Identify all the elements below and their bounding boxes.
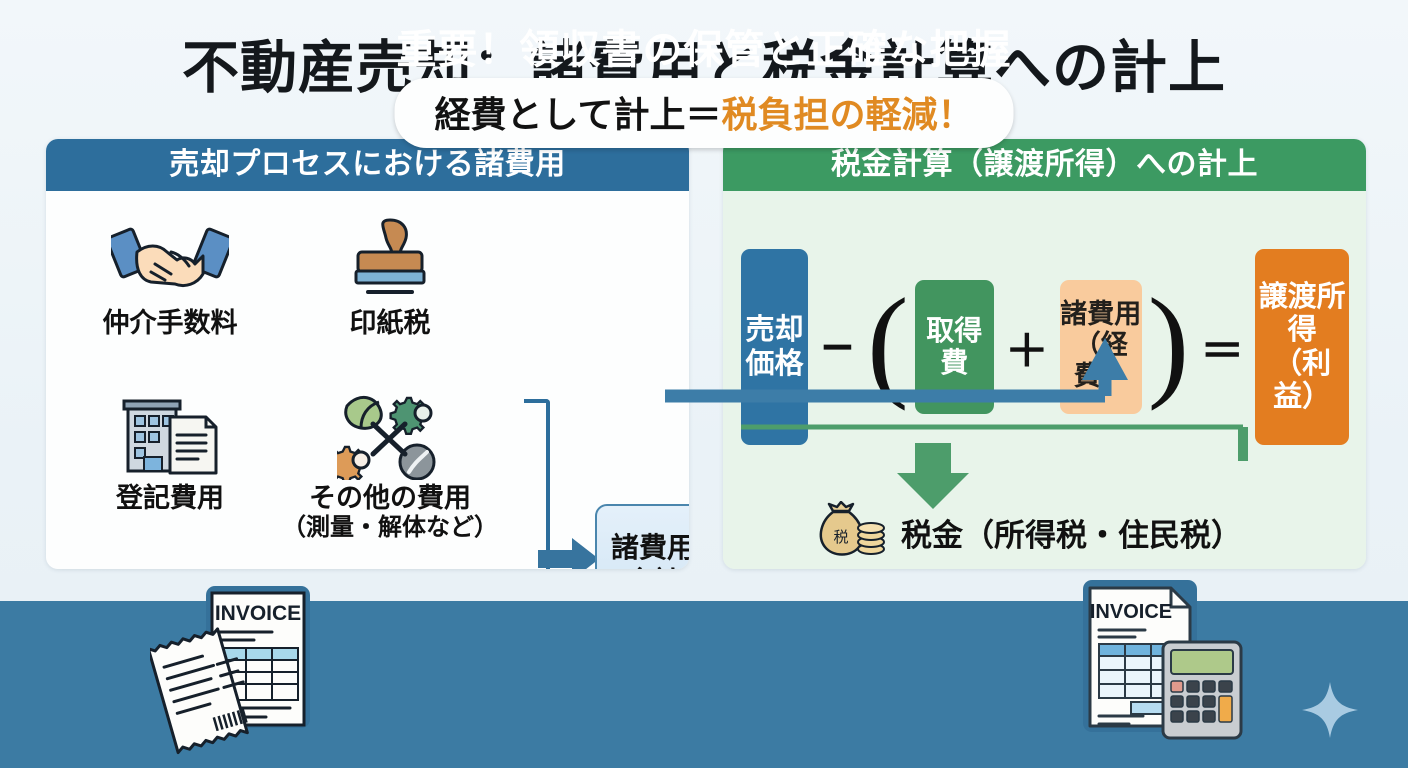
arrow-to-total-icon: [538, 536, 600, 569]
panel-tax-calculation-body: 売却 価格 − ( 取得費 ＋ 諸費用 （経費） ) ＝ 譲渡所得 （利益）: [723, 191, 1366, 569]
cost-item-other-costs-sub: （測量・解体など）: [282, 514, 498, 541]
cost-item-grid: 仲介手数料 印紙税: [60, 205, 500, 555]
cost-item-stamp-tax: 印紙税: [280, 205, 500, 380]
total-costs-line1: 諸費用: [611, 531, 689, 565]
footer-key-message-pill: 経費として計上＝税負担の軽減！: [395, 78, 1014, 148]
cost-item-registration-fee: 登記費用: [60, 380, 280, 555]
svg-text:税: 税: [833, 528, 848, 546]
formula-paren-open: (: [867, 295, 909, 393]
panel-tax-calculation: 税金計算（譲渡所得）への計上 売却 価格 − ( 取得費 ＋ 諸費用 （経費） …: [723, 139, 1366, 569]
footer-pill-plain-text: 経費として計上＝: [435, 95, 722, 136]
invoice-receipt-icon: INVOICE: [150, 584, 340, 768]
cost-item-brokerage-fee-label: 仲介手数料: [103, 309, 238, 339]
handshake-icon: [111, 213, 229, 305]
invoice-label-right: INVOICE: [1090, 601, 1172, 623]
panel-sales-costs-body: 仲介手数料 印紙税: [46, 191, 689, 569]
formula-plus-operator: ＋: [1000, 315, 1054, 379]
formula-capital-gain-line1: 譲渡所得: [1255, 280, 1349, 346]
infographic-page: 不動産売却：諸費用と税金計算への計上 売却プロセスにおける諸費用: [0, 0, 1408, 768]
panel-sales-costs: 売却プロセスにおける諸費用 仲介手数料: [46, 139, 689, 569]
total-costs-box: 諸費用 合計: [595, 504, 689, 569]
cost-item-other-costs: その他の費用 （測量・解体など）: [280, 380, 500, 555]
formula-expenses-line2: （経費）: [1060, 331, 1142, 393]
cost-item-registration-fee-label: 登記費用: [116, 484, 224, 514]
formula-sale-price-line2: 価格: [746, 347, 804, 380]
building-document-icon: [114, 388, 226, 480]
stamp-icon: [340, 213, 440, 305]
tax-result-row: 税 税金（所得税・住民税）: [815, 501, 1242, 564]
formula-sale-price-line1: 売却: [746, 313, 804, 346]
invoice-label-left: INVOICE: [215, 602, 301, 625]
money-bag-tax-icon: 税: [815, 501, 887, 564]
sparkle-icon: [1300, 680, 1360, 745]
formula-minus-operator: −: [814, 321, 861, 372]
total-costs-line2: 合計: [625, 565, 681, 569]
cost-item-other-costs-main: その他の費用: [309, 483, 471, 514]
footer-heading: 重要！領収書の保管と正確な把握: [0, 17, 1408, 75]
cost-item-other-costs-label: その他の費用 （測量・解体など）: [282, 484, 498, 541]
formula-equals-operator: ＝: [1195, 315, 1249, 379]
formula-paren-close: ): [1148, 295, 1190, 393]
invoice-calculator-icon: INVOICE: [1063, 578, 1263, 768]
cost-item-brokerage-fee: 仲介手数料: [60, 205, 280, 380]
formula-acquisition-cost-label: 取得費: [915, 315, 994, 379]
formula-acquisition-cost-box: 取得費: [915, 280, 994, 414]
cost-item-stamp-tax-label: 印紙税: [350, 309, 431, 339]
formula-expenses-line1: 諸費用: [1060, 300, 1141, 331]
footer-pill-highlight-text: 税負担の軽減！: [721, 95, 973, 136]
gears-survey-icon: [337, 388, 443, 480]
formula-expenses-box: 諸費用 （経費）: [1060, 280, 1142, 414]
tax-result-label: 税金（所得税・住民税）: [901, 510, 1242, 555]
